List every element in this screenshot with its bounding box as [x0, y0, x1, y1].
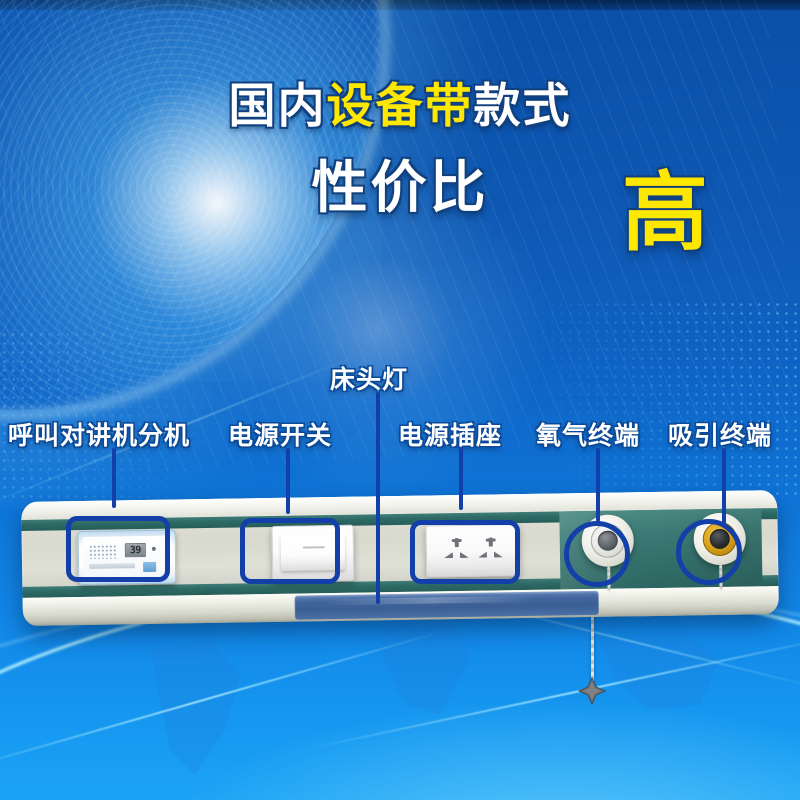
- leader-line-power-switch: [286, 448, 290, 514]
- callout-layer: 呼叫对讲机分机 电源开关 床头灯 电源插座 氧气终端 吸引终端: [0, 0, 800, 800]
- leader-line-bed-lamp: [376, 392, 380, 604]
- callout-power-switch: 电源开关: [228, 416, 332, 452]
- callout-bed-lamp: 床头灯: [330, 360, 408, 396]
- leader-line-power-socket: [459, 448, 463, 510]
- callout-oxygen-terminal: 氧气终端: [536, 416, 640, 452]
- callout-suction-terminal: 吸引终端: [668, 416, 772, 452]
- leader-line-suction-terminal: [722, 448, 726, 524]
- callout-power-socket: 电源插座: [398, 416, 502, 452]
- leader-line-oxygen-terminal: [596, 448, 600, 522]
- callout-intercom: 呼叫对讲机分机: [8, 416, 190, 452]
- leader-line-intercom: [112, 448, 116, 508]
